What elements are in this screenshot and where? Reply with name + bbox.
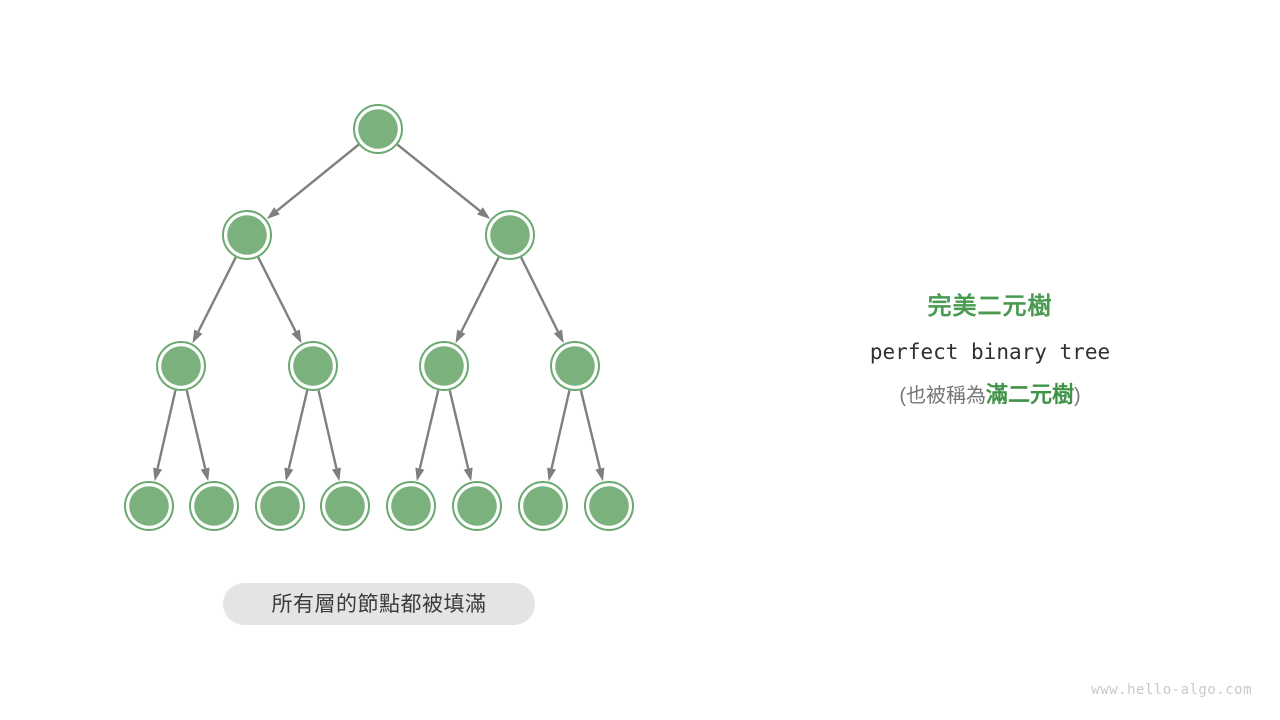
tree-edge xyxy=(258,257,301,343)
node-layer xyxy=(125,105,633,530)
legend-alt-prefix: (也被稱為 xyxy=(899,385,986,407)
tree-node[interactable] xyxy=(321,482,369,530)
diagram-page: 所有層的節點都被填滿 完美二元樹 perfect binary tree (也被… xyxy=(0,0,1280,720)
tree-node[interactable] xyxy=(420,342,468,390)
tree-edge xyxy=(450,390,473,481)
edge-arrowhead xyxy=(153,467,162,481)
tree-edge xyxy=(267,145,359,219)
tree-node[interactable] xyxy=(486,211,534,259)
legend-block: 完美二元樹 perfect binary tree (也被稱為滿二元樹) xyxy=(790,292,1190,409)
edge-layer xyxy=(153,145,604,482)
legend-alt-term: 滿二元樹 xyxy=(986,382,1074,407)
edge-arrowhead xyxy=(547,467,556,481)
caption-badge: 所有層的節點都被填滿 xyxy=(223,583,535,625)
watermark-label: www.hello-algo.com xyxy=(1091,682,1252,698)
edge-arrowhead xyxy=(455,330,465,344)
edge-arrowhead xyxy=(464,467,473,481)
tree-edge xyxy=(455,257,498,343)
edge-arrowhead xyxy=(415,467,424,481)
tree-edge xyxy=(521,257,564,343)
legend-alt-suffix: ) xyxy=(1074,385,1081,407)
edge-arrowhead xyxy=(595,468,604,482)
tree-node[interactable] xyxy=(387,482,435,530)
tree-edge xyxy=(581,390,604,481)
edge-arrowhead xyxy=(201,467,210,481)
tree-node[interactable] xyxy=(585,482,633,530)
tree-edge xyxy=(187,390,210,481)
edge-arrowhead xyxy=(192,330,202,344)
tree-edge xyxy=(415,390,438,481)
caption-label: 所有層的節點都被填滿 xyxy=(272,594,487,615)
tree-node[interactable] xyxy=(289,342,337,390)
tree-edge xyxy=(192,257,235,343)
tree-node[interactable] xyxy=(125,482,173,530)
tree-edge xyxy=(319,390,341,481)
legend-title: 完美二元樹 xyxy=(790,292,1190,323)
edge-arrowhead xyxy=(292,330,302,344)
tree-node[interactable] xyxy=(157,342,205,390)
tree-node[interactable] xyxy=(354,105,402,153)
edge-arrowhead xyxy=(554,329,564,343)
tree-node[interactable] xyxy=(223,211,271,259)
legend-alternate-name: (也被稱為滿二元樹) xyxy=(790,381,1190,410)
tree-edge xyxy=(547,390,569,481)
tree-edge xyxy=(284,390,307,481)
tree-node[interactable] xyxy=(453,482,501,530)
tree-edge xyxy=(397,145,490,219)
tree-node[interactable] xyxy=(551,342,599,390)
legend-subtitle: perfect binary tree xyxy=(790,339,1190,366)
edge-arrowhead xyxy=(332,467,341,481)
edge-arrowhead xyxy=(284,467,293,481)
tree-edge xyxy=(153,390,175,481)
tree-node[interactable] xyxy=(519,482,567,530)
tree-node[interactable] xyxy=(256,482,304,530)
tree-node[interactable] xyxy=(190,482,238,530)
